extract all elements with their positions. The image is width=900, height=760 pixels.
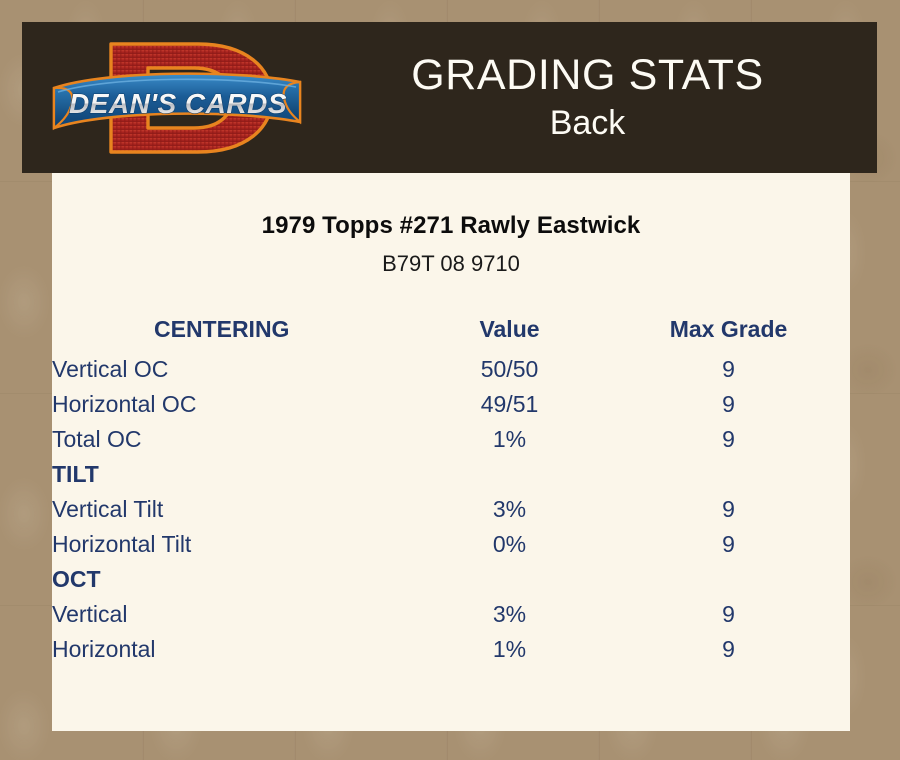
stat-max-grade: 9 [607,527,850,562]
column-header-centering: CENTERING [52,316,412,352]
stat-label: Horizontal OC [52,387,412,422]
stat-label: Horizontal [52,632,412,667]
card-title: 1979 Topps #271 Rawly Eastwick [52,212,850,240]
table-header-row: CENTERING Value Max Grade [52,316,850,352]
stat-value: 49/51 [412,387,607,422]
section-header-row: OCT [52,562,850,597]
column-header-max-grade: Max Grade [607,316,850,352]
section-title: TILT [52,457,412,492]
column-header-value: Value [412,316,607,352]
stat-max-grade: 9 [607,352,850,387]
table-row: Vertical Tilt3%9 [52,492,850,527]
page-title: GRADING STATS [411,54,764,98]
header-bar: DEAN'S CARDS GRADING STATS Back [22,22,877,173]
stat-value: 3% [412,597,607,632]
card-code: B79T 08 9710 [52,251,850,277]
section-spacer [412,457,607,492]
section-spacer [607,562,850,597]
page-subtitle: Back [550,106,626,141]
stat-value: 0% [412,527,607,562]
deans-cards-logo: DEAN'S CARDS [48,30,308,166]
header-title-block: GRADING STATS Back [308,22,877,173]
stat-value: 1% [412,422,607,457]
table-header: CENTERING Value Max Grade [52,316,850,352]
section-spacer [607,457,850,492]
grading-stats-table: CENTERING Value Max Grade Vertical OC50/… [52,316,850,667]
stat-label: Total OC [52,422,412,457]
table-row: Vertical3%9 [52,597,850,632]
stat-value: 50/50 [412,352,607,387]
stat-label: Vertical Tilt [52,492,412,527]
stat-max-grade: 9 [607,387,850,422]
logo-wordmark: DEAN'S CARDS [69,88,287,119]
table-row: Horizontal1%9 [52,632,850,667]
table-row: Vertical OC50/509 [52,352,850,387]
section-header-row: TILT [52,457,850,492]
stat-value: 1% [412,632,607,667]
table-row: Horizontal OC49/519 [52,387,850,422]
stat-max-grade: 9 [607,632,850,667]
stat-label: Vertical OC [52,352,412,387]
stat-value: 3% [412,492,607,527]
table-body: Vertical OC50/509Horizontal OC49/519Tota… [52,352,850,667]
stat-max-grade: 9 [607,492,850,527]
table-row: Total OC1%9 [52,422,850,457]
stat-label: Vertical [52,597,412,632]
section-spacer [412,562,607,597]
stat-label: Horizontal Tilt [52,527,412,562]
section-title: OCT [52,562,412,597]
table-row: Horizontal Tilt0%9 [52,527,850,562]
stat-max-grade: 9 [607,422,850,457]
stat-max-grade: 9 [607,597,850,632]
content-panel: 1979 Topps #271 Rawly Eastwick B79T 08 9… [52,173,850,731]
